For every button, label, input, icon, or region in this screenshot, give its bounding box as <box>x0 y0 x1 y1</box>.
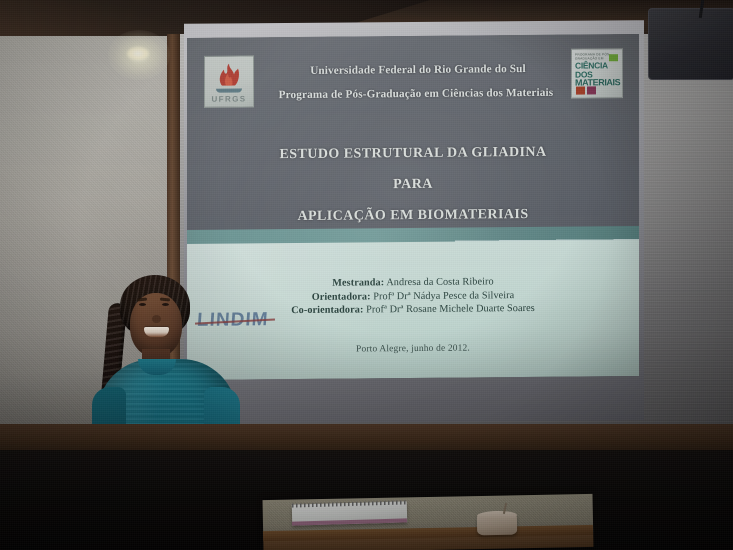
presenter-smile <box>144 327 169 337</box>
credit-label-coorientadora: Co-orientadora: <box>291 305 363 317</box>
credit-value-coorientadora: Profª Drª Rosane Michele Duarte Soares <box>366 303 535 315</box>
presenter-eye-left <box>139 303 146 306</box>
cm-green-accent <box>609 54 618 61</box>
wall-mounted-air-conditioner <box>648 8 733 80</box>
photo-scene: UFRGS PROGRAMA DE PÓS-GRADUAÇÃO EM CIÊNC… <box>0 0 733 550</box>
projected-slide: UFRGS PROGRAMA DE PÓS-GRADUAÇÃO EM CIÊNC… <box>187 34 639 380</box>
credit-label-orientadora: Orientadora: <box>312 291 371 303</box>
credit-value-orientadora: Profª Drª Nádya Pesce da Silveira <box>373 290 514 302</box>
credit-label-mestranda: Mestranda: <box>332 277 384 288</box>
presenter-eye-right <box>162 303 169 306</box>
ceiling-light-core <box>127 47 149 60</box>
presenter-face <box>130 293 182 357</box>
presenter-nose <box>152 315 161 323</box>
credit-value-mestranda: Andresa da Costa Ribeiro <box>386 276 493 288</box>
